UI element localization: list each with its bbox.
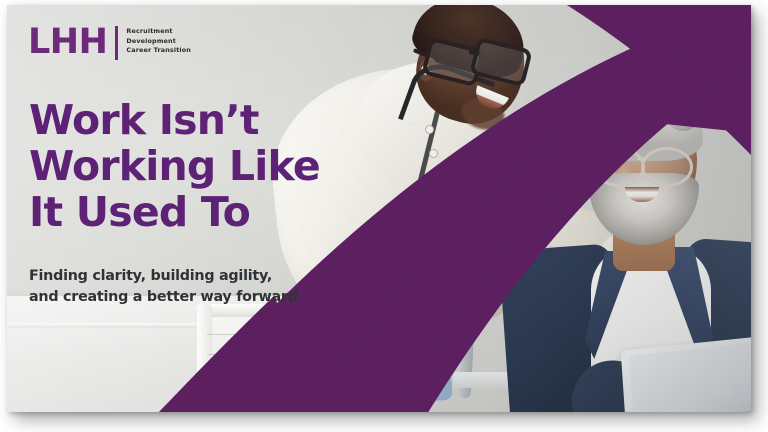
headline-line-3: It Used To: [29, 189, 359, 235]
logo-tagline-line-2: Development: [126, 37, 191, 47]
logo-tagline-line-3: Career Transition: [126, 46, 191, 56]
logo-divider-bar: [115, 26, 118, 60]
subhead-line-2: and creating a better way forward: [29, 287, 349, 308]
lhh-logo: LHH Recruitment Development Career Trans…: [28, 25, 191, 60]
headline-line-2: Working Like: [29, 143, 359, 189]
subhead-line-1: Finding clarity, building agility,: [29, 266, 349, 287]
logo-tagline: Recruitment Development Career Transitio…: [126, 27, 191, 56]
screenshot-canvas: LHH Recruitment Development Career Trans…: [0, 0, 768, 432]
presentation-slide: LHH Recruitment Development Career Trans…: [7, 5, 751, 412]
headline-line-1: Work Isn’t: [29, 97, 359, 143]
page-title: Work Isn’t Working Like It Used To: [29, 97, 359, 235]
page-subtitle: Finding clarity, building agility, and c…: [29, 266, 349, 308]
logo-wordmark: LHH: [28, 25, 107, 59]
logo-tagline-line-1: Recruitment: [126, 27, 191, 37]
